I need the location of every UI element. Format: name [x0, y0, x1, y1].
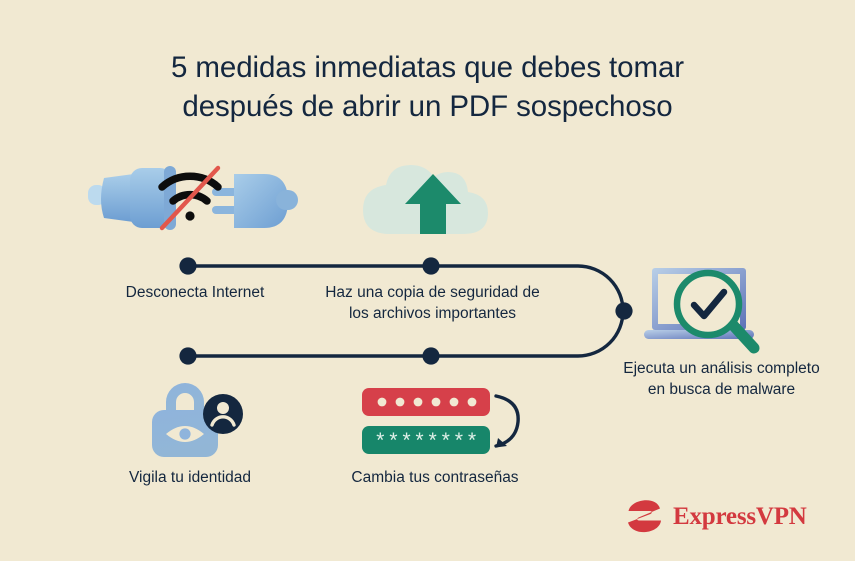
infographic-canvas: 5 medidas inmediatas que debes tomar des…	[0, 0, 855, 561]
step-label-watch-identity: Vigila tu identidad	[95, 467, 285, 488]
step-label-change-passwords: Cambia tus contraseñas	[330, 467, 540, 488]
step-label-line: Haz una copia de seguridad de	[300, 282, 565, 303]
step-label-line: Vigila tu identidad	[95, 467, 285, 488]
timeline-dot-2	[422, 257, 439, 274]
page-title: 5 medidas inmediatas que debes tomar des…	[0, 48, 855, 126]
lock-eye-person-icon	[148, 382, 244, 460]
strong-password-mask: ********	[374, 432, 479, 455]
timeline-dot-1	[179, 257, 196, 274]
step-label-line: en busca de malware	[594, 379, 849, 400]
expressvpn-logo[interactable]: ExpressVPN	[626, 495, 796, 537]
expressvpn-wordmark: ExpressVPN	[673, 504, 807, 529]
page-title-line-1: 5 medidas inmediatas que debes tomar	[0, 48, 855, 87]
step-label-line: Ejecuta un análisis completo	[594, 358, 849, 379]
step-label-backup-files: Haz una copia de seguridad de los archiv…	[300, 282, 565, 324]
change-arrow-icon	[496, 396, 518, 446]
plug-wifi-off-icon	[86, 160, 301, 240]
laptop-scan-check-icon	[644, 266, 762, 354]
step-label-line: los archivos importantes	[300, 303, 565, 324]
step-label-disconnect-internet: Desconecta Internet	[60, 282, 330, 303]
step-label-line: Desconecta Internet	[60, 282, 330, 303]
timeline-dot-3	[615, 302, 632, 319]
step-label-line: Cambia tus contraseñas	[330, 467, 540, 488]
timeline-dot-4	[422, 347, 439, 364]
page-title-line-2: después de abrir un PDF sospechoso	[0, 87, 855, 126]
cloud-upload-icon	[358, 160, 508, 242]
password-fields-icon: ********	[362, 388, 522, 456]
step-label-scan-malware: Ejecuta un análisis completo en busca de…	[594, 358, 849, 400]
expressvpn-logo-icon	[626, 499, 664, 533]
timeline-dot-5	[179, 347, 196, 364]
